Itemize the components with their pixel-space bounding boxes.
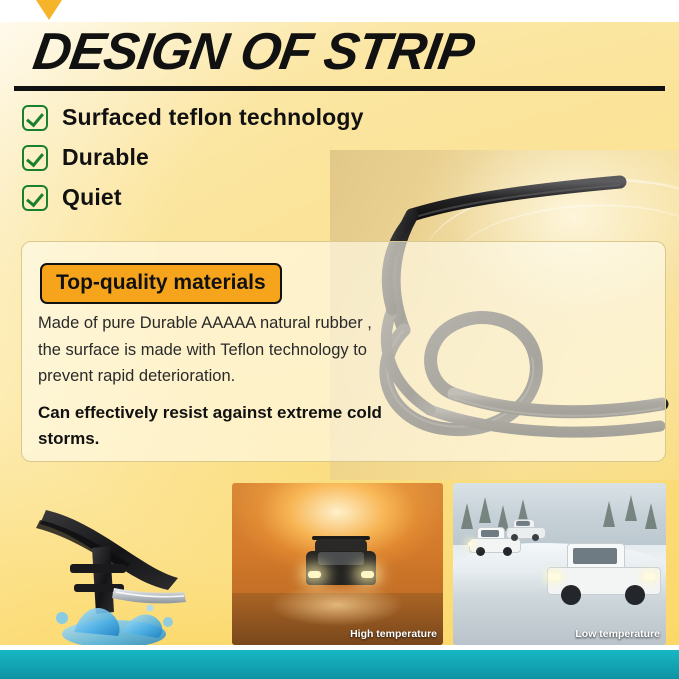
check-square-icon [22,105,48,131]
bottom-teal-bar [0,650,679,679]
check-square-icon [22,145,48,171]
card-paragraph: Made of pure Durable AAAAA natural rubbe… [38,310,398,390]
windshield [318,552,364,565]
wiper-adapter-svg [18,492,218,652]
title-underline-rule [14,86,665,91]
thumbnail-low-temperature: Low temperature [453,483,666,645]
status-badge: Top-quality materials [40,263,282,304]
pickup-truck-foreground [545,543,663,609]
card-highlight: Can effectively resist against extreme c… [38,400,398,453]
feature-label: Surfaced teflon technology [62,104,364,131]
thumbnail-label: Low temperature [575,628,660,640]
thumbnail-label: High temperature [350,628,437,640]
thumbnail-high-temperature: High temperature [232,483,443,645]
gold-triangle-marker [36,0,62,20]
headlight-right [361,571,374,578]
feature-label: Durable [62,144,149,171]
page-title: DESIGN OF STRIP [29,22,477,82]
wiper-adapter-product-image [18,492,218,652]
suv-vehicle [302,535,380,597]
infographic-page: DESIGN OF STRIP Surfaced teflon technolo… [0,0,679,679]
feature-label: Quiet [62,184,122,211]
headlight-left [308,571,321,578]
check-square-icon [22,185,48,211]
pickup-truck-far [505,519,547,543]
top-white-strip [0,0,679,22]
list-item: Surfaced teflon technology [22,104,542,131]
